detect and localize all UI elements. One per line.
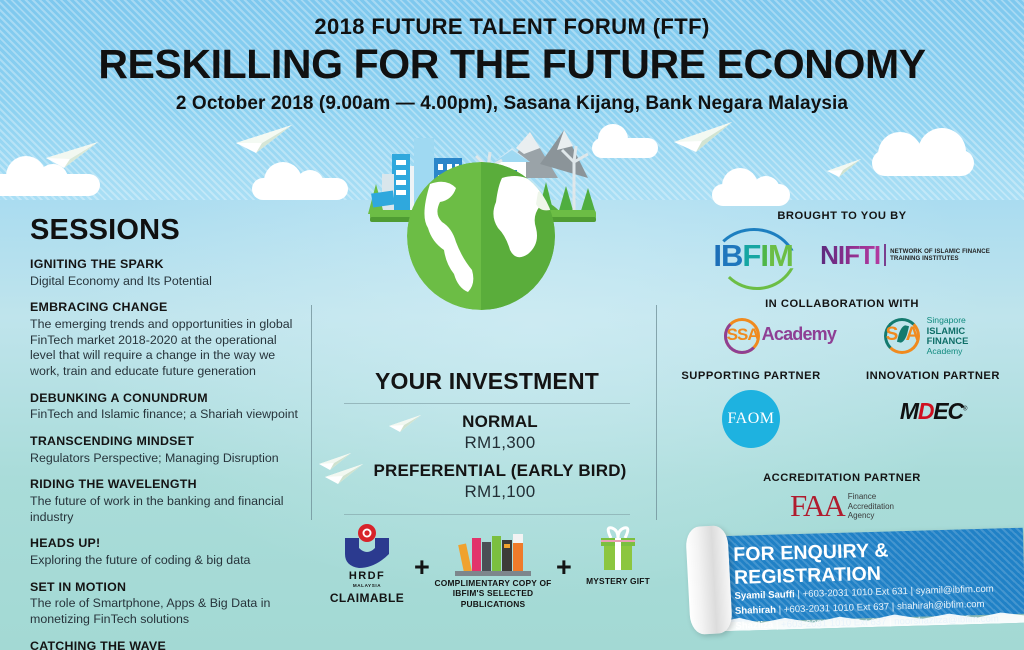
sifa-mark-icon: S A (880, 316, 924, 356)
divider (344, 514, 630, 515)
mdec-reg: ® (963, 407, 966, 413)
faa-line2: Accreditation (848, 502, 894, 511)
enquiry-heading: FOR ENQUIRY & REGISTRATION (719, 528, 1024, 590)
session-desc: Exploring the future of coding & big dat… (30, 553, 305, 569)
session-item: HEADS UP! Exploring the future of coding… (30, 536, 305, 568)
contact-separator: | (779, 604, 782, 615)
page-title: RESKILLING FOR THE FUTURE ECONOMY (0, 44, 1024, 86)
contact-separator: | (910, 586, 913, 597)
divider (344, 403, 630, 404)
contact-email[interactable]: shahirah@ibfim.com (897, 599, 985, 612)
hrdf-wordmark: HRDF (324, 570, 410, 583)
contact-name: Shahirah (735, 605, 776, 617)
tier-price: RM1,100 (348, 482, 652, 502)
paper-plane-icon (672, 120, 734, 159)
brought-to-you-by-label: BROUGHT TO YOU BY (660, 210, 1024, 222)
mdec-logo: MDEC® (842, 398, 1024, 425)
session-item: TRANSCENDING MINDSET Regulators Perspect… (30, 434, 305, 466)
contact-phone: +603-2031 1010 Ext 637 (784, 601, 890, 615)
sifa-wordmark: Singapore ISLAMIC FINANCE Academy (927, 316, 969, 356)
books-icon (447, 528, 539, 578)
session-desc: Digital Economy and Its Potential (30, 274, 305, 290)
session-title: SET IN MOTION (30, 580, 305, 596)
collaboration-logos: SSA Academy S A Singapore ISLAMIC FINANC… (660, 316, 1024, 356)
ibfim-wordmark: IBFIM (694, 238, 812, 274)
perk-mystery-gift: MYSTERY GIFT (576, 526, 660, 586)
gift-icon (594, 526, 642, 572)
session-item: EMBRACING CHANGE The emerging trends and… (30, 300, 305, 380)
session-desc: The future of work in the banking and fi… (30, 494, 305, 526)
faa-mark: FAA (790, 488, 844, 524)
hrdf-logo-icon (337, 524, 397, 572)
perk-publications: COMPLIMENTARY COPY OF IBFIM'S SELECTED P… (434, 528, 552, 609)
ssa-mark: SSA (727, 325, 759, 345)
session-title: TRANSCENDING MINDSET (30, 434, 305, 450)
ibfim-logo: IBFIM (694, 226, 812, 284)
faa-line1: Finance (848, 492, 894, 501)
contact-separator: | (797, 589, 800, 600)
sessions-panel: SESSIONS IGNITING THE SPARK Digital Econ… (30, 214, 305, 650)
contact-name: Shazliza (735, 619, 773, 631)
perk-caption: MYSTERY GIFT (576, 576, 660, 586)
contact-name: Syamil Sauffi (734, 589, 795, 602)
investment-panel: YOUR INVESTMENT NORMAL RM1,300 PREFERENT… (322, 368, 652, 515)
mdec-part1: M (900, 398, 918, 424)
session-item: IGNITING THE SPARK Digital Economy and I… (30, 257, 305, 289)
enquiry-banner-ribbon: FOR ENQUIRY & REGISTRATION Syamil Sauffi… (719, 528, 1024, 622)
session-title: RIDING THE WAVELENGTH (30, 477, 305, 493)
poster-canvas: 2018 FUTURE TALENT FORUM (FTF) RESKILLIN… (0, 0, 1024, 650)
nifti-divider (884, 244, 886, 266)
session-title: DEBUNKING A CONUNDRUM (30, 391, 305, 407)
partners-panel: BROUGHT TO YOU BY IBFIM NIFTI NETWORK OF… (660, 210, 1024, 524)
innovation-partner-block: INNOVATION PARTNER MDEC® (842, 370, 1024, 448)
session-item: CATCHING THE WAVE How Fintech advances a… (30, 639, 305, 650)
innovation-partner-label: INNOVATION PARTNER (842, 370, 1024, 382)
tier-name: PREFERENTIAL (EARLY BIRD) (348, 461, 652, 481)
session-desc: The role of Smartphone, Apps & Big Data … (30, 596, 305, 628)
hrdf-wordmark-sub: MALAYSIA (324, 583, 410, 589)
plus-separator: + (414, 552, 430, 583)
nifti-logo: NIFTI NETWORK OF ISLAMIC FINANCE TRAININ… (820, 240, 990, 271)
paper-roll-decoration (685, 525, 733, 635)
contact-phone: +603-2031 1010 Ext 631 (802, 586, 908, 600)
session-desc: Regulators Perspective; Managing Disrupt… (30, 451, 305, 467)
session-item: RIDING THE WAVELENGTH The future of work… (30, 477, 305, 525)
event-subtitle: 2 October 2018 (9.00am — 4.00pm), Sasana… (0, 93, 1024, 115)
contact-phone: +603-2031 1010 Ext 637 (781, 616, 887, 630)
session-item: DEBUNKING A CONUNDRUM FinTech and Islami… (30, 391, 305, 423)
nifti-wordmark: NIFTI (820, 240, 880, 271)
faa-line3: Agency (848, 511, 894, 520)
enquiry-banner: FOR ENQUIRY & REGISTRATION Syamil Sauffi… (690, 522, 1024, 650)
faa-wordmark: Finance Accreditation Agency (848, 492, 894, 520)
nifti-tagline-line2: TRAINING INSTITUTES (890, 255, 990, 262)
nifti-tagline: NETWORK OF ISLAMIC FINANCE TRAINING INST… (890, 248, 990, 263)
sifa-logo: S A Singapore ISLAMIC FINANCE Academy (880, 316, 969, 356)
ibfim-letter: I (760, 238, 768, 273)
session-title: CATCHING THE WAVE (30, 639, 305, 650)
session-title: IGNITING THE SPARK (30, 257, 305, 273)
supporting-partner-label: SUPPORTING PARTNER (660, 370, 842, 382)
sessions-heading: SESSIONS (30, 214, 305, 247)
partner-tier-row: SUPPORTING PARTNER FAOM INNOVATION PARTN… (660, 370, 1024, 448)
contact-separator: | (892, 601, 895, 612)
mdec-part3: EC (933, 398, 963, 424)
session-title: EMBRACING CHANGE (30, 300, 305, 316)
ibfim-letter: B (721, 238, 742, 273)
supporting-partner-block: SUPPORTING PARTNER FAOM (660, 370, 842, 448)
session-desc: The emerging trends and opportunities in… (30, 317, 305, 380)
accreditation-partner-label: ACCREDITATION PARTNER (660, 472, 1024, 484)
ssa-word: Academy (762, 324, 836, 345)
sifa-line4: Academy (927, 347, 969, 357)
poster-header: 2018 FUTURE TALENT FORUM (FTF) RESKILLIN… (0, 0, 1024, 115)
brought-by-logos: IBFIM NIFTI NETWORK OF ISLAMIC FINANCE T… (660, 226, 1024, 284)
session-title: HEADS UP! (30, 536, 305, 552)
paper-plane-icon (234, 123, 294, 160)
nifti-tagline-line1: NETWORK OF ISLAMIC FINANCE (890, 248, 990, 255)
contact-email[interactable]: syamil@ibfim.com (916, 584, 994, 597)
contact-separator: | (889, 616, 892, 627)
ibfim-letter: I (713, 238, 721, 273)
faa-logo: FAA Finance Accreditation Agency (660, 488, 1024, 524)
mdec-part2: D (918, 398, 933, 424)
perk-caption-2: IBFIM'S SELECTED PUBLICATIONS (434, 588, 552, 609)
plus-separator: + (556, 552, 572, 583)
investment-tier: NORMAL RM1,300 (322, 412, 652, 453)
faom-logo: FAOM (722, 390, 780, 448)
perk-caption: CLAIMABLE (324, 591, 410, 606)
perk-hrdf: HRDF MALAYSIA CLAIMABLE (324, 524, 410, 606)
ibfim-letter: M (768, 238, 793, 273)
session-desc: FinTech and Islamic finance; a Shariah v… (30, 407, 305, 423)
paper-plane-icon (388, 414, 422, 438)
faom-wordmark: FAOM (727, 410, 774, 428)
perk-caption: COMPLIMENTARY COPY OF (434, 578, 552, 588)
column-divider-left (311, 305, 312, 520)
column-divider-right (656, 305, 657, 520)
session-item: SET IN MOTION The role of Smartphone, Ap… (30, 580, 305, 628)
ssa-academy-logo: SSA Academy (716, 316, 866, 356)
ibfim-letter: F (742, 238, 760, 273)
paper-plane-icon (324, 463, 364, 490)
contact-email[interactable]: noorshazliza@ibfim.com (894, 613, 999, 627)
collaboration-label: IN COLLABORATION WITH (660, 298, 1024, 310)
investment-heading: YOUR INVESTMENT (322, 368, 652, 395)
contact-separator: | (776, 619, 779, 630)
globe-city-illustration (352, 118, 610, 310)
event-eyebrow: 2018 FUTURE TALENT FORUM (FTF) (0, 14, 1024, 40)
paper-plane-icon (826, 158, 862, 183)
paper-plane-icon (44, 140, 100, 175)
investment-tier: PREFERENTIAL (EARLY BIRD) RM1,100 (322, 461, 652, 502)
